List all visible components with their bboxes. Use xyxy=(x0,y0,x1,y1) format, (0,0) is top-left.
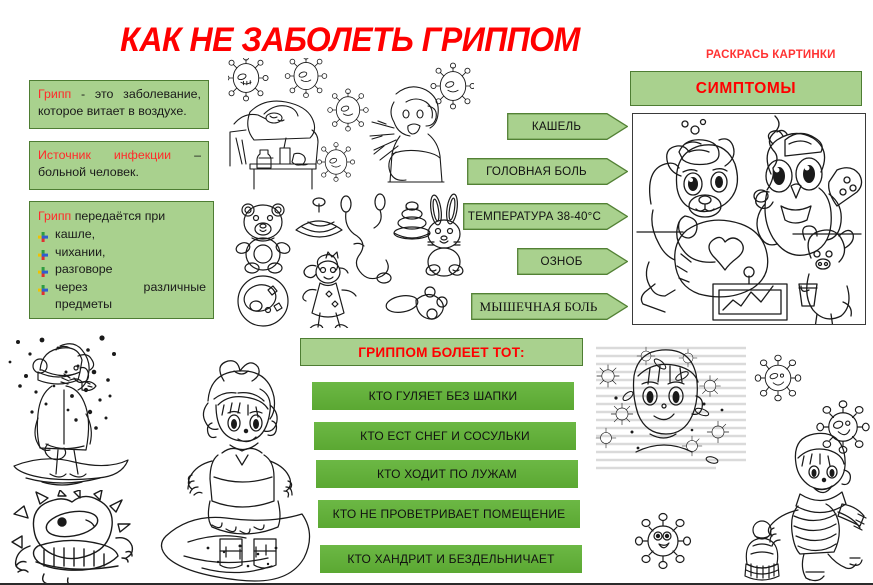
plus-bullet-icon xyxy=(38,230,48,240)
list-item: разговоре xyxy=(38,261,206,279)
info-box-definition-highlight: Грипп xyxy=(38,87,71,101)
symptom-arrow-label: ТЕМПЕРАТУРА 38-40°C xyxy=(463,203,606,230)
illustration-virus-character-bottom xyxy=(618,500,708,582)
info-box-source-highlight: Источник инфекции xyxy=(38,148,171,162)
symptom-arrow-label: ОЗНОБ xyxy=(517,248,606,275)
symptom-arrow-label: МЫШЕЧНАЯ БОЛЬ xyxy=(471,293,606,320)
poster-canvas: КАК НЕ ЗАБОЛЕТЬ ГРИППОМ РАСКРАСЬ КАРТИНК… xyxy=(0,0,873,585)
illustration-puddle xyxy=(158,498,338,583)
plus-bullet-icon xyxy=(38,265,48,275)
symptom-arrow-temperature: ТЕМПЕРАТУРА 38-40°C xyxy=(463,203,628,230)
plus-bullet-icon xyxy=(38,248,48,258)
list-item: кашле, xyxy=(38,226,206,244)
risk-item-eats-snow: КТО ЕСТ СНЕГ И СОСУЛЬКИ xyxy=(314,422,576,450)
illustration-toys xyxy=(228,192,474,328)
illustration-boy-with-scarf xyxy=(766,430,873,582)
risk-item-no-hat: КТО ГУЛЯЕТ БЕЗ ШАПКИ xyxy=(312,382,574,410)
illustration-germ-monster xyxy=(10,490,144,585)
info-box-transmission-highlight: Грипп xyxy=(38,209,71,223)
symptoms-coloring-picture xyxy=(632,113,866,325)
list-item: через различные предметы xyxy=(38,279,206,314)
list-item-label: разговоре xyxy=(55,261,206,279)
risk-item-label: КТО ГУЛЯЕТ БЕЗ ШАПКИ xyxy=(369,389,518,403)
list-item-label: кашле, xyxy=(55,226,206,244)
info-box-transmission-lead: Грипп передаётся при xyxy=(38,208,206,225)
risk-item-label: КТО НЕ ПРОВЕТРИВАЕТ ПОМЕЩЕНИЕ xyxy=(333,507,566,521)
color-the-pictures-hint: РАСКРАСЬ КАРТИНКИ xyxy=(706,49,836,61)
info-box-source: Источник инфекции – больной человек. xyxy=(29,141,209,190)
risk-section-header: ГРИППОМ БОЛЕЕТ ТОТ: xyxy=(300,338,583,366)
symptom-arrow-muscle-pain: МЫШЕЧНАЯ БОЛЬ xyxy=(471,293,628,320)
risk-item-idle-and-moody: КТО ХАНДРИТ И БЕЗДЕЛЬНИЧАЕТ xyxy=(320,545,582,573)
list-item-label: чихании, xyxy=(55,244,206,262)
risk-item-label: КТО ЕСТ СНЕГ И СОСУЛЬКИ xyxy=(360,429,530,443)
plus-bullet-icon xyxy=(38,283,48,293)
list-item: чихании, xyxy=(38,244,206,262)
page-title: КАК НЕ ЗАБОЛЕТЬ ГРИППОМ xyxy=(21,21,679,60)
risk-item-no-ventilation: КТО НЕ ПРОВЕТРИВАЕТ ПОМЕЩЕНИЕ xyxy=(318,500,580,528)
info-box-transmission: Грипп передаётся при кашле, xyxy=(29,201,214,319)
illustration-head-with-germs xyxy=(592,342,772,507)
symptoms-header: СИМПТОМЫ xyxy=(630,71,862,106)
transmission-list: кашле, чихании, xyxy=(38,226,206,314)
illustration-sick-in-bed-and-sneezing xyxy=(228,58,474,190)
info-box-transmission-lead-rest: передаётся при xyxy=(71,209,165,223)
illustration-boy-eating-icicle xyxy=(2,332,192,502)
symptom-arrow-headache: ГОЛОВНАЯ БОЛЬ xyxy=(467,158,628,185)
symptom-arrow-label: ГОЛОВНАЯ БОЛЬ xyxy=(467,158,606,185)
symptom-arrow-label: КАШЕЛЬ xyxy=(507,113,606,140)
symptom-arrow-cough: КАШЕЛЬ xyxy=(507,113,628,140)
risk-item-label: КТО ХАНДРИТ И БЕЗДЕЛЬНИЧАЕТ xyxy=(347,552,554,566)
info-box-definition: Грипп - это заболевание, которое витает … xyxy=(29,80,209,129)
symptom-arrow-chills: ОЗНОБ xyxy=(517,248,628,275)
list-item-label: через различные предметы xyxy=(55,279,206,314)
risk-item-label: КТО ХОДИТ ПО ЛУЖАМ xyxy=(377,467,517,481)
risk-item-walks-in-puddles: КТО ХОДИТ ПО ЛУЖАМ xyxy=(316,460,578,488)
